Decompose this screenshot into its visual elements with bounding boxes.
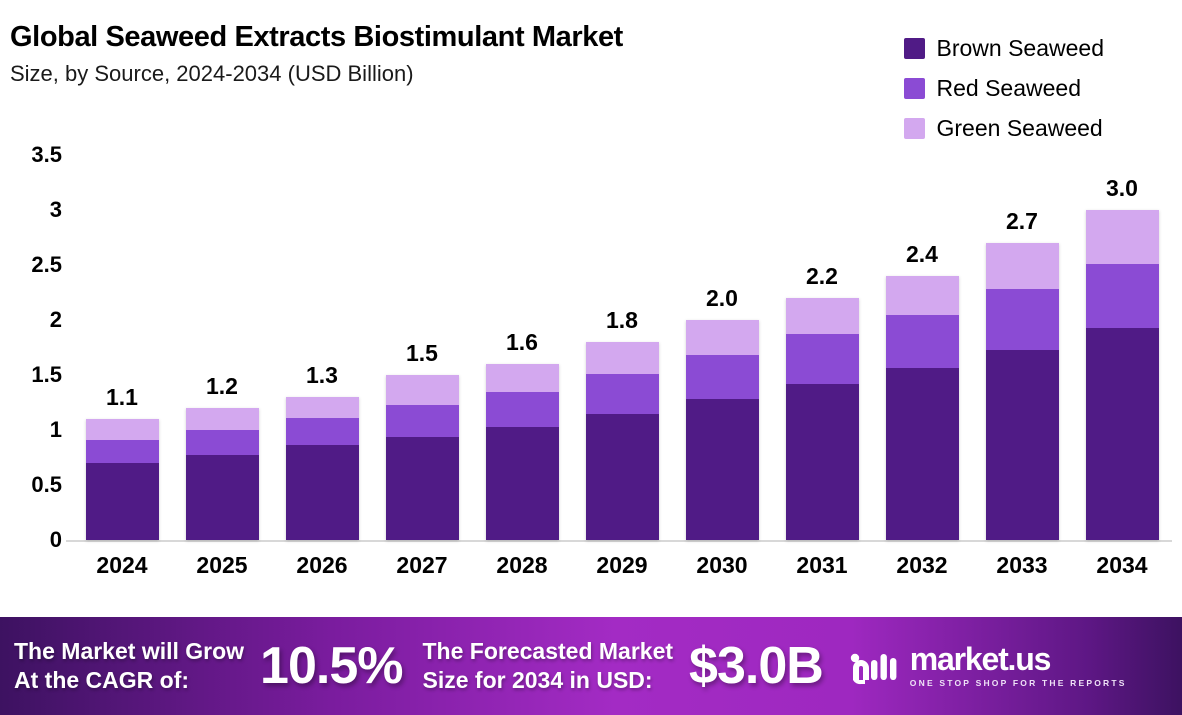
x-axis-baseline <box>66 540 1172 542</box>
legend-label: Brown Seaweed <box>937 35 1105 62</box>
y-axis-tick: 1 <box>50 417 62 443</box>
bar-segment-red-seaweed[interactable] <box>86 440 159 463</box>
y-axis-tick: 3 <box>50 197 62 223</box>
bar-segment-green-seaweed[interactable] <box>286 397 359 418</box>
bar-stack[interactable] <box>686 320 759 540</box>
bar-segment-red-seaweed[interactable] <box>286 418 359 446</box>
bar-segment-red-seaweed[interactable] <box>186 430 259 455</box>
x-axis-tick: 2031 <box>786 552 859 579</box>
bar-segment-green-seaweed[interactable] <box>86 419 159 440</box>
cagr-caption: The Market will Grow At the CAGR of: <box>14 637 244 695</box>
y-axis-tick: 0 <box>50 527 62 553</box>
bar-stack[interactable] <box>186 408 259 540</box>
forecast-caption-line2: Size for 2034 in USD: <box>423 666 674 695</box>
bar-segment-green-seaweed[interactable] <box>886 276 959 315</box>
bar-value-label: 2.4 <box>886 241 959 268</box>
bar-segment-brown-seaweed[interactable] <box>486 427 559 540</box>
x-axis-tick: 2034 <box>1086 552 1159 579</box>
chart-page: Global Seaweed Extracts Biostimulant Mar… <box>0 0 1182 715</box>
bar-segment-brown-seaweed[interactable] <box>986 350 1059 540</box>
x-axis-tick: 2032 <box>886 552 959 579</box>
y-axis-tick: 2 <box>50 307 62 333</box>
legend-swatch-icon <box>904 78 925 99</box>
bar-segment-green-seaweed[interactable] <box>386 375 459 405</box>
chart-header: Global Seaweed Extracts Biostimulant Mar… <box>10 18 840 90</box>
bar-value-label: 2.7 <box>986 208 1059 235</box>
y-axis-tick: 1.5 <box>31 362 62 388</box>
x-axis-tick: 2024 <box>86 552 159 579</box>
chart-area: 00.511.522.533.5 1.11.21.31.51.61.82.02.… <box>0 155 1182 600</box>
bar-segment-green-seaweed[interactable] <box>786 298 859 334</box>
x-axis: 2024202520262027202820292030203120322033… <box>72 552 1172 579</box>
legend-swatch-icon <box>904 38 925 59</box>
bar-column[interactable]: 1.3 <box>286 155 359 540</box>
legend-label: Green Seaweed <box>937 115 1103 142</box>
cagr-caption-line2: At the CAGR of: <box>14 666 244 695</box>
x-axis-tick: 2027 <box>386 552 459 579</box>
legend-item-brown-seaweed[interactable]: Brown Seaweed <box>904 28 1105 68</box>
bar-column[interactable]: 2.2 <box>786 155 859 540</box>
x-axis-tick: 2028 <box>486 552 559 579</box>
bar-segment-brown-seaweed[interactable] <box>186 455 259 540</box>
bar-stack[interactable] <box>886 276 959 540</box>
bar-segment-brown-seaweed[interactable] <box>386 437 459 540</box>
bar-value-label: 1.6 <box>486 329 559 356</box>
y-axis: 00.511.522.533.5 <box>0 155 72 555</box>
bar-segment-green-seaweed[interactable] <box>586 342 659 374</box>
x-axis-tick: 2030 <box>686 552 759 579</box>
x-axis-tick: 2029 <box>586 552 659 579</box>
bar-value-label: 2.2 <box>786 263 859 290</box>
bar-segment-red-seaweed[interactable] <box>386 405 459 437</box>
cagr-value: 10.5% <box>260 636 402 696</box>
y-axis-tick: 0.5 <box>31 472 62 498</box>
bar-segment-brown-seaweed[interactable] <box>86 463 159 540</box>
legend-swatch-icon <box>904 118 925 139</box>
bar-stack[interactable] <box>586 342 659 540</box>
y-axis-tick: 2.5 <box>31 252 62 278</box>
logo-tagline: ONE STOP SHOP FOR THE REPORTS <box>910 677 1127 689</box>
bar-segment-green-seaweed[interactable] <box>1086 210 1159 264</box>
bar-segment-red-seaweed[interactable] <box>1086 264 1159 328</box>
bar-column[interactable]: 1.2 <box>186 155 259 540</box>
forecast-caption: The Forecasted Market Size for 2034 in U… <box>423 637 674 695</box>
bar-segment-red-seaweed[interactable] <box>886 315 959 369</box>
bars-plot-area: 1.11.21.31.51.61.82.02.22.42.73.0 <box>72 155 1172 540</box>
bar-column[interactable]: 2.0 <box>686 155 759 540</box>
bar-segment-brown-seaweed[interactable] <box>1086 328 1159 540</box>
chart-legend: Brown Seaweed Red Seaweed Green Seaweed <box>904 28 1105 148</box>
x-axis-tick: 2026 <box>286 552 359 579</box>
summary-banner: The Market will Grow At the CAGR of: 10.… <box>0 617 1182 715</box>
bar-value-label: 1.2 <box>186 373 259 400</box>
bar-column[interactable]: 3.0 <box>1086 155 1159 540</box>
page-title: Global Seaweed Extracts Biostimulant Mar… <box>10 18 840 56</box>
legend-item-green-seaweed[interactable]: Green Seaweed <box>904 108 1105 148</box>
bar-segment-red-seaweed[interactable] <box>686 355 759 399</box>
bar-column[interactable]: 2.4 <box>886 155 959 540</box>
bar-column[interactable]: 2.7 <box>986 155 1059 540</box>
bar-segment-brown-seaweed[interactable] <box>886 368 959 540</box>
cagr-caption-line1: The Market will Grow <box>14 637 244 666</box>
forecast-value: $3.0B <box>689 636 823 696</box>
market-us-logo-text: market.us ONE STOP SHOP FOR THE REPORTS <box>910 643 1127 689</box>
bar-value-label: 1.1 <box>86 384 159 411</box>
bar-segment-brown-seaweed[interactable] <box>586 414 659 541</box>
bar-value-label: 1.8 <box>586 307 659 334</box>
market-us-logo[interactable]: market.us ONE STOP SHOP FOR THE REPORTS <box>849 643 1127 689</box>
bar-stack[interactable] <box>86 419 159 540</box>
legend-label: Red Seaweed <box>937 75 1082 102</box>
bar-stack[interactable] <box>986 243 1059 540</box>
bar-segment-green-seaweed[interactable] <box>186 408 259 430</box>
x-axis-tick: 2025 <box>186 552 259 579</box>
bar-segment-red-seaweed[interactable] <box>986 289 1059 350</box>
bar-stack[interactable] <box>386 375 459 540</box>
bar-segment-brown-seaweed[interactable] <box>786 384 859 540</box>
bar-stack[interactable] <box>286 397 359 540</box>
bar-segment-red-seaweed[interactable] <box>486 392 559 427</box>
bar-stack[interactable] <box>1086 210 1159 540</box>
x-axis-tick: 2033 <box>986 552 1059 579</box>
bar-segment-red-seaweed[interactable] <box>786 334 859 384</box>
bar-column[interactable]: 1.8 <box>586 155 659 540</box>
bar-segment-red-seaweed[interactable] <box>586 374 659 414</box>
legend-item-red-seaweed[interactable]: Red Seaweed <box>904 68 1105 108</box>
bar-value-label: 1.3 <box>286 362 359 389</box>
bar-stack[interactable] <box>486 364 559 540</box>
bar-segment-brown-seaweed[interactable] <box>686 399 759 540</box>
bar-segment-brown-seaweed[interactable] <box>286 445 359 540</box>
logo-wordmark: market.us <box>910 643 1127 675</box>
bar-segment-green-seaweed[interactable] <box>486 364 559 392</box>
bar-segment-green-seaweed[interactable] <box>986 243 1059 289</box>
bar-value-label: 3.0 <box>1086 175 1159 202</box>
bar-segment-green-seaweed[interactable] <box>686 320 759 355</box>
forecast-caption-line1: The Forecasted Market <box>423 637 674 666</box>
bar-value-label: 2.0 <box>686 285 759 312</box>
market-us-logo-mark-icon <box>849 646 901 686</box>
page-subtitle: Size, by Source, 2024-2034 (USD Billion) <box>10 58 840 90</box>
bar-column[interactable]: 1.1 <box>86 155 159 540</box>
bar-column[interactable]: 1.5 <box>386 155 459 540</box>
y-axis-tick: 3.5 <box>31 142 62 168</box>
bar-value-label: 1.5 <box>386 340 459 367</box>
bar-stack[interactable] <box>786 298 859 540</box>
bar-column[interactable]: 1.6 <box>486 155 559 540</box>
